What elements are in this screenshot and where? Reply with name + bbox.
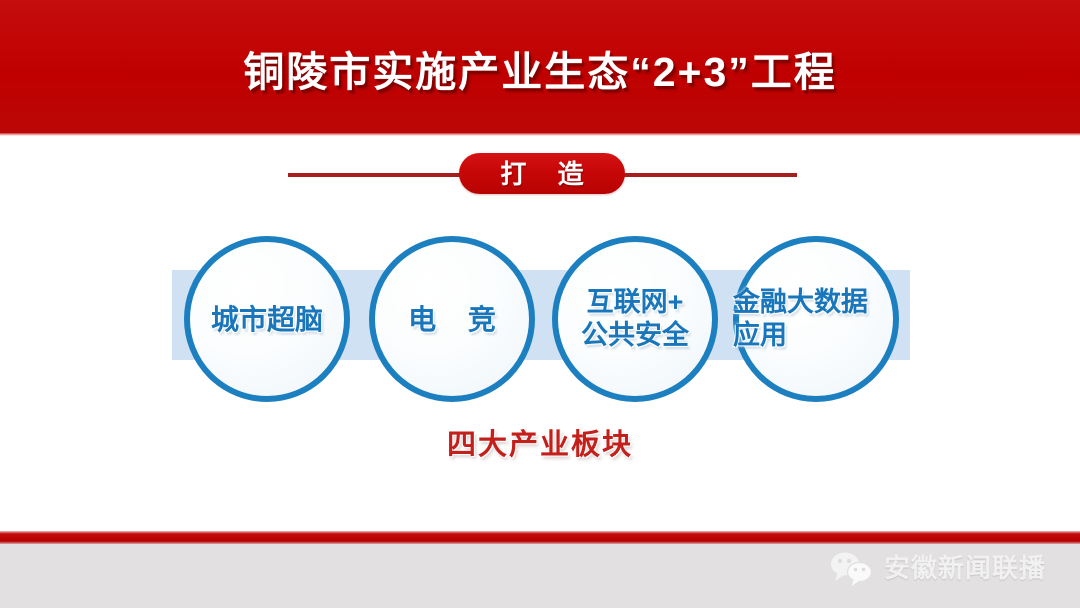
diagram-caption: 四大产业板块 [0, 427, 1080, 463]
industry-circle-1: 城市超脑 [184, 236, 350, 402]
industry-circle-2-label: 电 竞 [347, 303, 557, 336]
header-underline [0, 133, 1080, 136]
industry-circle-3: 互联网+ 公共安全 [552, 236, 718, 402]
industry-circle-4-label: 金融大数据 应用 [733, 286, 905, 352]
circles-diagram: 城市超脑 电 竞 互联网+ 公共安全 金融大数据 应用 [0, 225, 1080, 415]
industry-circle-4: 金融大数据 应用 [733, 236, 899, 402]
section-badge: 打 造 [459, 153, 625, 194]
industry-circle-2: 电 竞 [369, 236, 535, 402]
channel-name: 安徽新闻联播 [884, 553, 1046, 583]
industry-circle-1-label: 城市超脑 [162, 303, 372, 336]
divider-line-right [612, 173, 797, 177]
industry-circle-3-label: 互联网+ 公共安全 [530, 286, 740, 352]
channel-watermark: 安徽新闻联播 [828, 545, 1046, 591]
divider-line-left [288, 173, 473, 177]
footer-stripe [0, 531, 1080, 544]
section-badge-label: 打 造 [488, 160, 595, 188]
slide-canvas: 铜陵市实施产业生态“2+3”工程 打 造 城市超脑 电 竞 互联网+ 公共安全 … [0, 0, 1080, 608]
wechat-icon [828, 550, 876, 586]
page-title: 铜陵市实施产业生态“2+3”工程 [0, 46, 1080, 98]
